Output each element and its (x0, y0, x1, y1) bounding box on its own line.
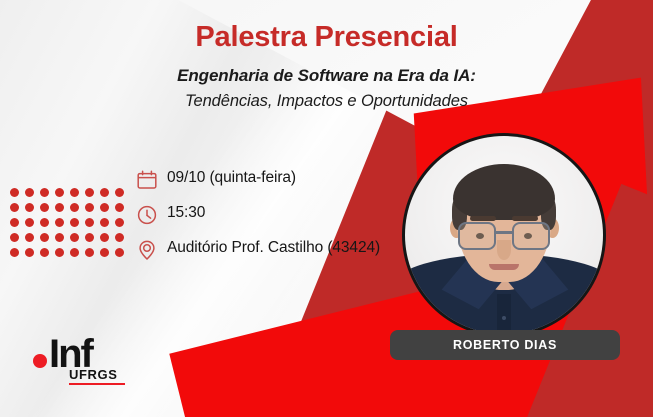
event-poster: Palestra Presencial Engenharia de Softwa… (0, 0, 653, 417)
grid-dot (10, 248, 19, 257)
grid-dot (40, 203, 49, 212)
grid-dot (10, 218, 19, 227)
grid-dot (55, 233, 64, 242)
logo-wordmark-row: Inf (33, 338, 125, 371)
speaker-photo (405, 136, 603, 334)
grid-dot (55, 188, 64, 197)
grid-dot (115, 218, 124, 227)
event-detail-location: Auditório Prof. Castilho (43424) (136, 238, 380, 261)
grid-dot (85, 233, 94, 242)
grid-dot (70, 233, 79, 242)
portrait-shirt-placket (497, 294, 511, 334)
grid-dot (40, 248, 49, 257)
grid-dot (55, 203, 64, 212)
grid-dot (115, 248, 124, 257)
grid-dot (85, 203, 94, 212)
event-date-text: 09/10 (quinta-feira) (167, 168, 296, 188)
grid-dot (85, 188, 94, 197)
grid-dot (25, 233, 34, 242)
portrait-glasses-bridge (496, 231, 512, 234)
speaker-portrait-frame (402, 133, 606, 337)
portrait-shirt-button (502, 316, 506, 320)
grid-dot (55, 248, 64, 257)
grid-dot (10, 203, 19, 212)
logo-wordmark: Inf (49, 338, 92, 371)
grid-dot (25, 203, 34, 212)
grid-dot (85, 248, 94, 257)
speaker-name-badge: ROBERTO DIAS (390, 330, 620, 360)
grid-dot (40, 233, 49, 242)
logo-institution-block: UFRGS (69, 368, 125, 386)
clock-icon (136, 204, 158, 226)
grid-dot (100, 248, 109, 257)
grid-dot (55, 218, 64, 227)
grid-dot (85, 218, 94, 227)
grid-dot (70, 218, 79, 227)
portrait-eyebrow-left (470, 216, 496, 221)
portrait-lens-right (512, 222, 550, 250)
grid-dot (70, 203, 79, 212)
event-time-text: 15:30 (167, 203, 205, 223)
grid-dot (115, 233, 124, 242)
event-location-text: Auditório Prof. Castilho (43424) (167, 238, 380, 258)
grid-dot (100, 233, 109, 242)
dot-grid-decoration (10, 188, 130, 263)
poster-subtitle-primary: Engenharia de Software na Era da IA: (0, 66, 653, 86)
portrait-lens-left (458, 222, 496, 250)
event-detail-time: 15:30 (136, 203, 380, 226)
grid-dot (25, 218, 34, 227)
portrait-hair (453, 164, 555, 220)
poster-subtitle-secondary: Tendências, Impactos e Oportunidades (0, 92, 653, 111)
grid-dot (70, 248, 79, 257)
calendar-icon (136, 169, 158, 191)
grid-dot (25, 248, 34, 257)
event-detail-date: 09/10 (quinta-feira) (136, 168, 380, 191)
event-details-list: 09/10 (quinta-feira) 15:30 Auditório Pro… (136, 168, 380, 261)
logo-institution-text: UFRGS (69, 368, 125, 381)
grid-dot (25, 188, 34, 197)
poster-heading: Palestra Presencial Engenharia de Softwa… (0, 22, 653, 111)
logo-underline (69, 383, 125, 386)
grid-dot (10, 233, 19, 242)
inf-ufrgs-logo: Inf UFRGS (33, 338, 125, 385)
logo-dot-icon (33, 354, 47, 368)
grid-dot (100, 203, 109, 212)
poster-title: Palestra Presencial (0, 22, 653, 54)
grid-dot (115, 203, 124, 212)
grid-dot (40, 218, 49, 227)
grid-dot (100, 218, 109, 227)
grid-dot (115, 188, 124, 197)
location-pin-icon (136, 239, 158, 261)
grid-dot (70, 188, 79, 197)
grid-dot (10, 188, 19, 197)
portrait-eyebrow-right (512, 216, 538, 221)
portrait-mouth (489, 264, 519, 270)
portrait-nose (497, 240, 511, 260)
grid-dot (40, 188, 49, 197)
speaker-name-text: ROBERTO DIAS (453, 338, 557, 352)
grid-dot (100, 188, 109, 197)
